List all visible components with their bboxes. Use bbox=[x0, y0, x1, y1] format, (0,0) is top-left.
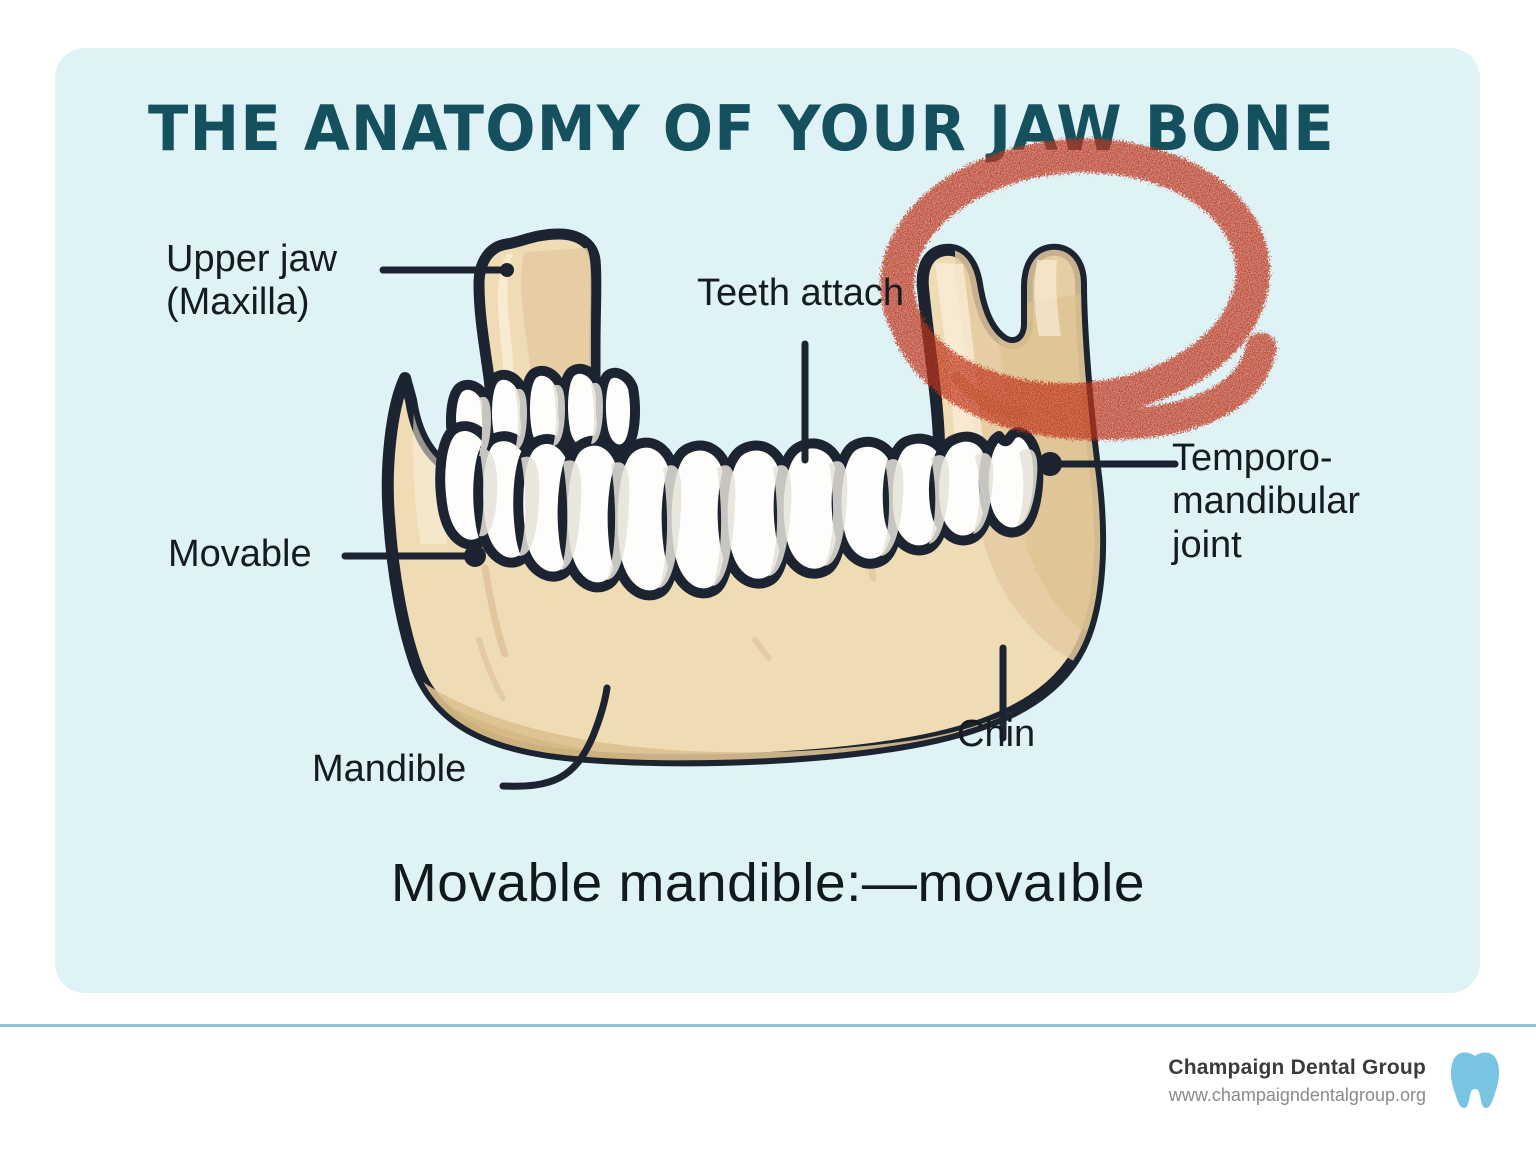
infographic-root: THE ANATOMY OF YOUR JAW BONE bbox=[0, 0, 1536, 1154]
footer-brand-name: Champaign Dental Group bbox=[1168, 1056, 1426, 1080]
footer-text-block: Champaign Dental Group www.champaigndent… bbox=[1168, 1056, 1426, 1106]
label-movable: Movable bbox=[168, 533, 312, 576]
label-temporomandibular-joint: Temporo- mandibular joint bbox=[1172, 437, 1360, 567]
label-upper-jaw: Upper jaw (Maxilla) bbox=[166, 238, 337, 325]
caption-text: Movable mandible:—movaıble bbox=[0, 852, 1536, 914]
label-teeth-attach: Teeth attach bbox=[697, 272, 904, 315]
label-mandible: Mandible bbox=[312, 748, 466, 791]
label-chin: Chin bbox=[957, 713, 1035, 756]
footer-divider bbox=[0, 1024, 1536, 1027]
footer: Champaign Dental Group www.champaigndent… bbox=[1168, 1050, 1502, 1112]
tooth-icon bbox=[1448, 1050, 1502, 1112]
footer-website-url[interactable]: www.champaigndentalgroup.org bbox=[1168, 1085, 1426, 1106]
